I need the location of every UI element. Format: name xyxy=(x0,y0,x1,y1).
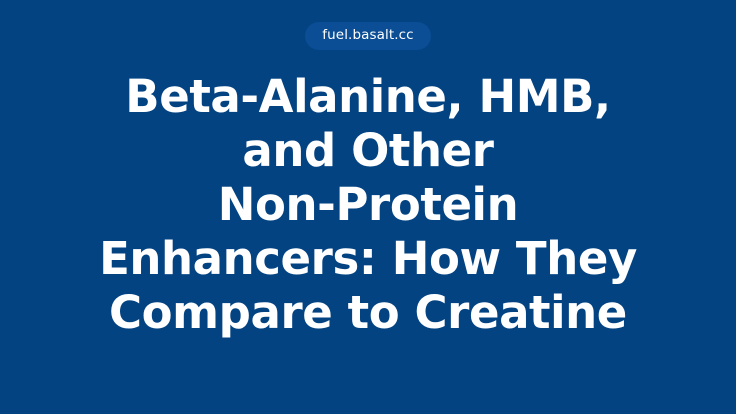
domain-badge-label: fuel.basalt.cc xyxy=(322,29,413,43)
page-title-line: and Other xyxy=(28,124,708,178)
domain-badge: fuel.basalt.cc xyxy=(305,22,430,50)
page-title-line: Enhancers: How They xyxy=(28,232,708,286)
page-title-line: Non-Protein xyxy=(28,178,708,232)
social-share-card: fuel.basalt.cc Beta-Alanine, HMB, and Ot… xyxy=(0,0,736,414)
page-title: Beta-Alanine, HMB, and Other Non-Protein… xyxy=(0,70,736,340)
page-title-line: Beta-Alanine, HMB, xyxy=(28,70,708,124)
page-title-line: Compare to Creatine xyxy=(28,286,708,340)
